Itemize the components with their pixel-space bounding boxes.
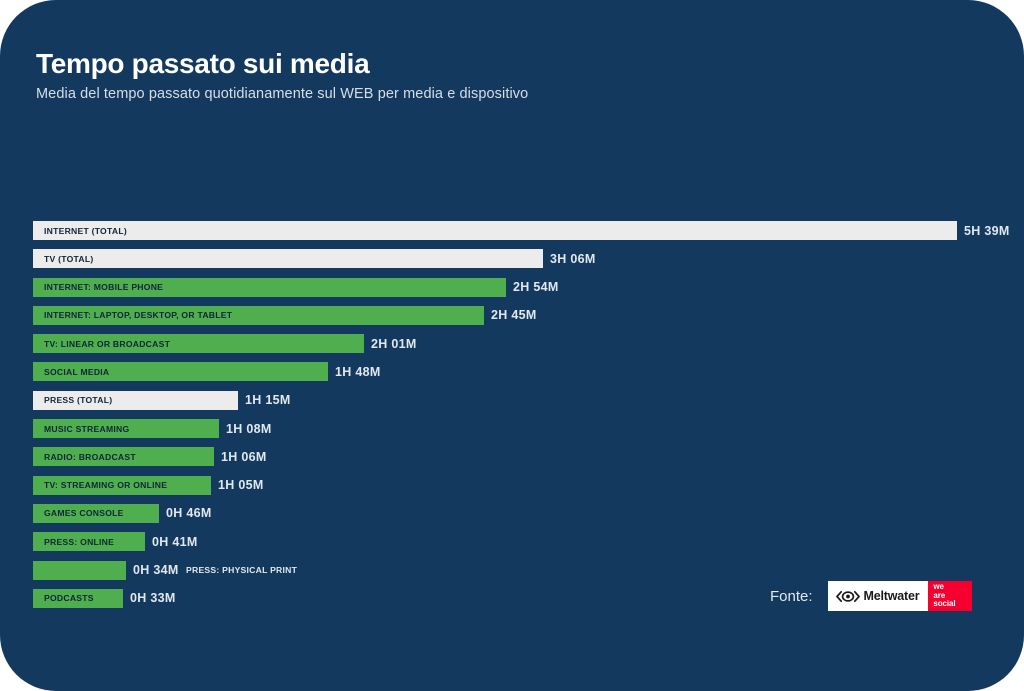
chart-row: TV (TOTAL)3H 06M [0,246,1024,274]
bar-category-label: TV (TOTAL) [33,254,93,264]
we-are-social-logo: we are social [928,581,972,611]
bar-track: PRESS: ONLINE [33,532,145,551]
bar [33,561,126,580]
page-title: Tempo passato sui media [36,48,936,80]
chart-row: RADIO: BROADCAST1H 06M [0,444,1024,472]
bar-value-label: 5H 39M [964,221,1010,240]
bar-track: INTERNET: MOBILE PHONE [33,278,506,297]
bar-track: GAMES CONSOLE [33,504,159,523]
bar: SOCIAL MEDIA [33,362,328,381]
we-are-social-line-3: social [933,600,967,609]
meltwater-eye-icon [836,591,860,602]
bar-category-label: RADIO: BROADCAST [33,452,136,462]
bar-value-label: 0H 34M [133,561,179,580]
bar-track: TV: LINEAR OR BROADCAST [33,334,364,353]
bar-track: PRESS (TOTAL) [33,391,238,410]
bar: INTERNET: LAPTOP, DESKTOP, OR TABLET [33,306,484,325]
source-label: Fonte: [770,588,813,605]
bar-chart: INTERNET (TOTAL)5H 39MTV (TOTAL)3H 06MIN… [0,218,1024,614]
bar-track: RADIO: BROADCAST [33,447,214,466]
chart-row: INTERNET: LAPTOP, DESKTOP, OR TABLET2H 4… [0,303,1024,331]
bar: TV: LINEAR OR BROADCAST [33,334,364,353]
bar: GAMES CONSOLE [33,504,159,523]
bar: INTERNET (TOTAL) [33,221,957,240]
bar-track [33,561,126,580]
bar-category-label: MUSIC STREAMING [33,424,129,434]
bar-category-label: INTERNET (TOTAL) [33,226,127,236]
bar-track: INTERNET (TOTAL) [33,221,957,240]
chart-row: INTERNET (TOTAL)5H 39M [0,218,1024,246]
bar-value-label: 1H 48M [335,362,381,381]
bar-track: MUSIC STREAMING [33,419,219,438]
bar-value-label: 0H 46M [166,504,212,523]
chart-row: TV: STREAMING OR ONLINE1H 05M [0,473,1024,501]
meltwater-logo: Meltwater [828,581,929,611]
bar: PODCASTS [33,589,123,608]
bar-value-label: 0H 41M [152,532,198,551]
bar-category-label: TV: STREAMING OR ONLINE [33,480,167,490]
bar: PRESS: ONLINE [33,532,145,551]
bar-value-label: 2H 54M [513,278,559,297]
bar: PRESS (TOTAL) [33,391,238,410]
chart-row: PRESS (TOTAL)1H 15M [0,388,1024,416]
bar-value-label: 0H 33M [130,589,176,608]
page-subtitle: Media del tempo passato quotidianamente … [36,86,936,102]
bar-category-label: GAMES CONSOLE [33,508,124,518]
bar: TV (TOTAL) [33,249,543,268]
chart-row: GAMES CONSOLE0H 46M [0,501,1024,529]
chart-row: INTERNET: MOBILE PHONE2H 54M [0,275,1024,303]
chart-row: TV: LINEAR OR BROADCAST2H 01M [0,331,1024,359]
bar-value-label: 1H 05M [218,476,264,495]
chart-row: SOCIAL MEDIA1H 48M [0,359,1024,387]
bar: TV: STREAMING OR ONLINE [33,476,211,495]
bar-track: PODCASTS [33,589,123,608]
bar-category-label: TV: LINEAR OR BROADCAST [33,339,170,349]
bar: INTERNET: MOBILE PHONE [33,278,506,297]
source-logos: Meltwater we are social [828,581,973,611]
slide-canvas: Tempo passato sui media Media del tempo … [0,0,1024,691]
bar-track: TV (TOTAL) [33,249,543,268]
bar-track: TV: STREAMING OR ONLINE [33,476,211,495]
bar-category-label: PRESS (TOTAL) [33,395,112,405]
bar-category-label: SOCIAL MEDIA [33,367,109,377]
bar-value-label: 1H 15M [245,391,291,410]
chart-row: PRESS: ONLINE0H 41M [0,529,1024,557]
bar-category-label: INTERNET: LAPTOP, DESKTOP, OR TABLET [33,310,232,320]
bar: MUSIC STREAMING [33,419,219,438]
header: Tempo passato sui media Media del tempo … [36,48,936,102]
bar-value-label: 3H 06M [550,249,596,268]
bar-track: SOCIAL MEDIA [33,362,328,381]
bar-value-label: 2H 01M [371,334,417,353]
chart-row: MUSIC STREAMING1H 08M [0,416,1024,444]
meltwater-wordmark: Meltwater [864,589,920,603]
bar-value-label: 1H 06M [221,447,267,466]
bar-category-label: PRESS: ONLINE [33,537,114,547]
bar: RADIO: BROADCAST [33,447,214,466]
bar-category-label-outside: PRESS: PHYSICAL PRINT [186,561,297,580]
bar-value-label: 2H 45M [491,306,537,325]
bar-category-label: PODCASTS [33,593,94,603]
source-attribution: Fonte: Meltwater we are social [770,581,972,611]
bar-value-label: 1H 08M [226,419,272,438]
bar-track: INTERNET: LAPTOP, DESKTOP, OR TABLET [33,306,484,325]
bar-category-label: INTERNET: MOBILE PHONE [33,282,163,292]
